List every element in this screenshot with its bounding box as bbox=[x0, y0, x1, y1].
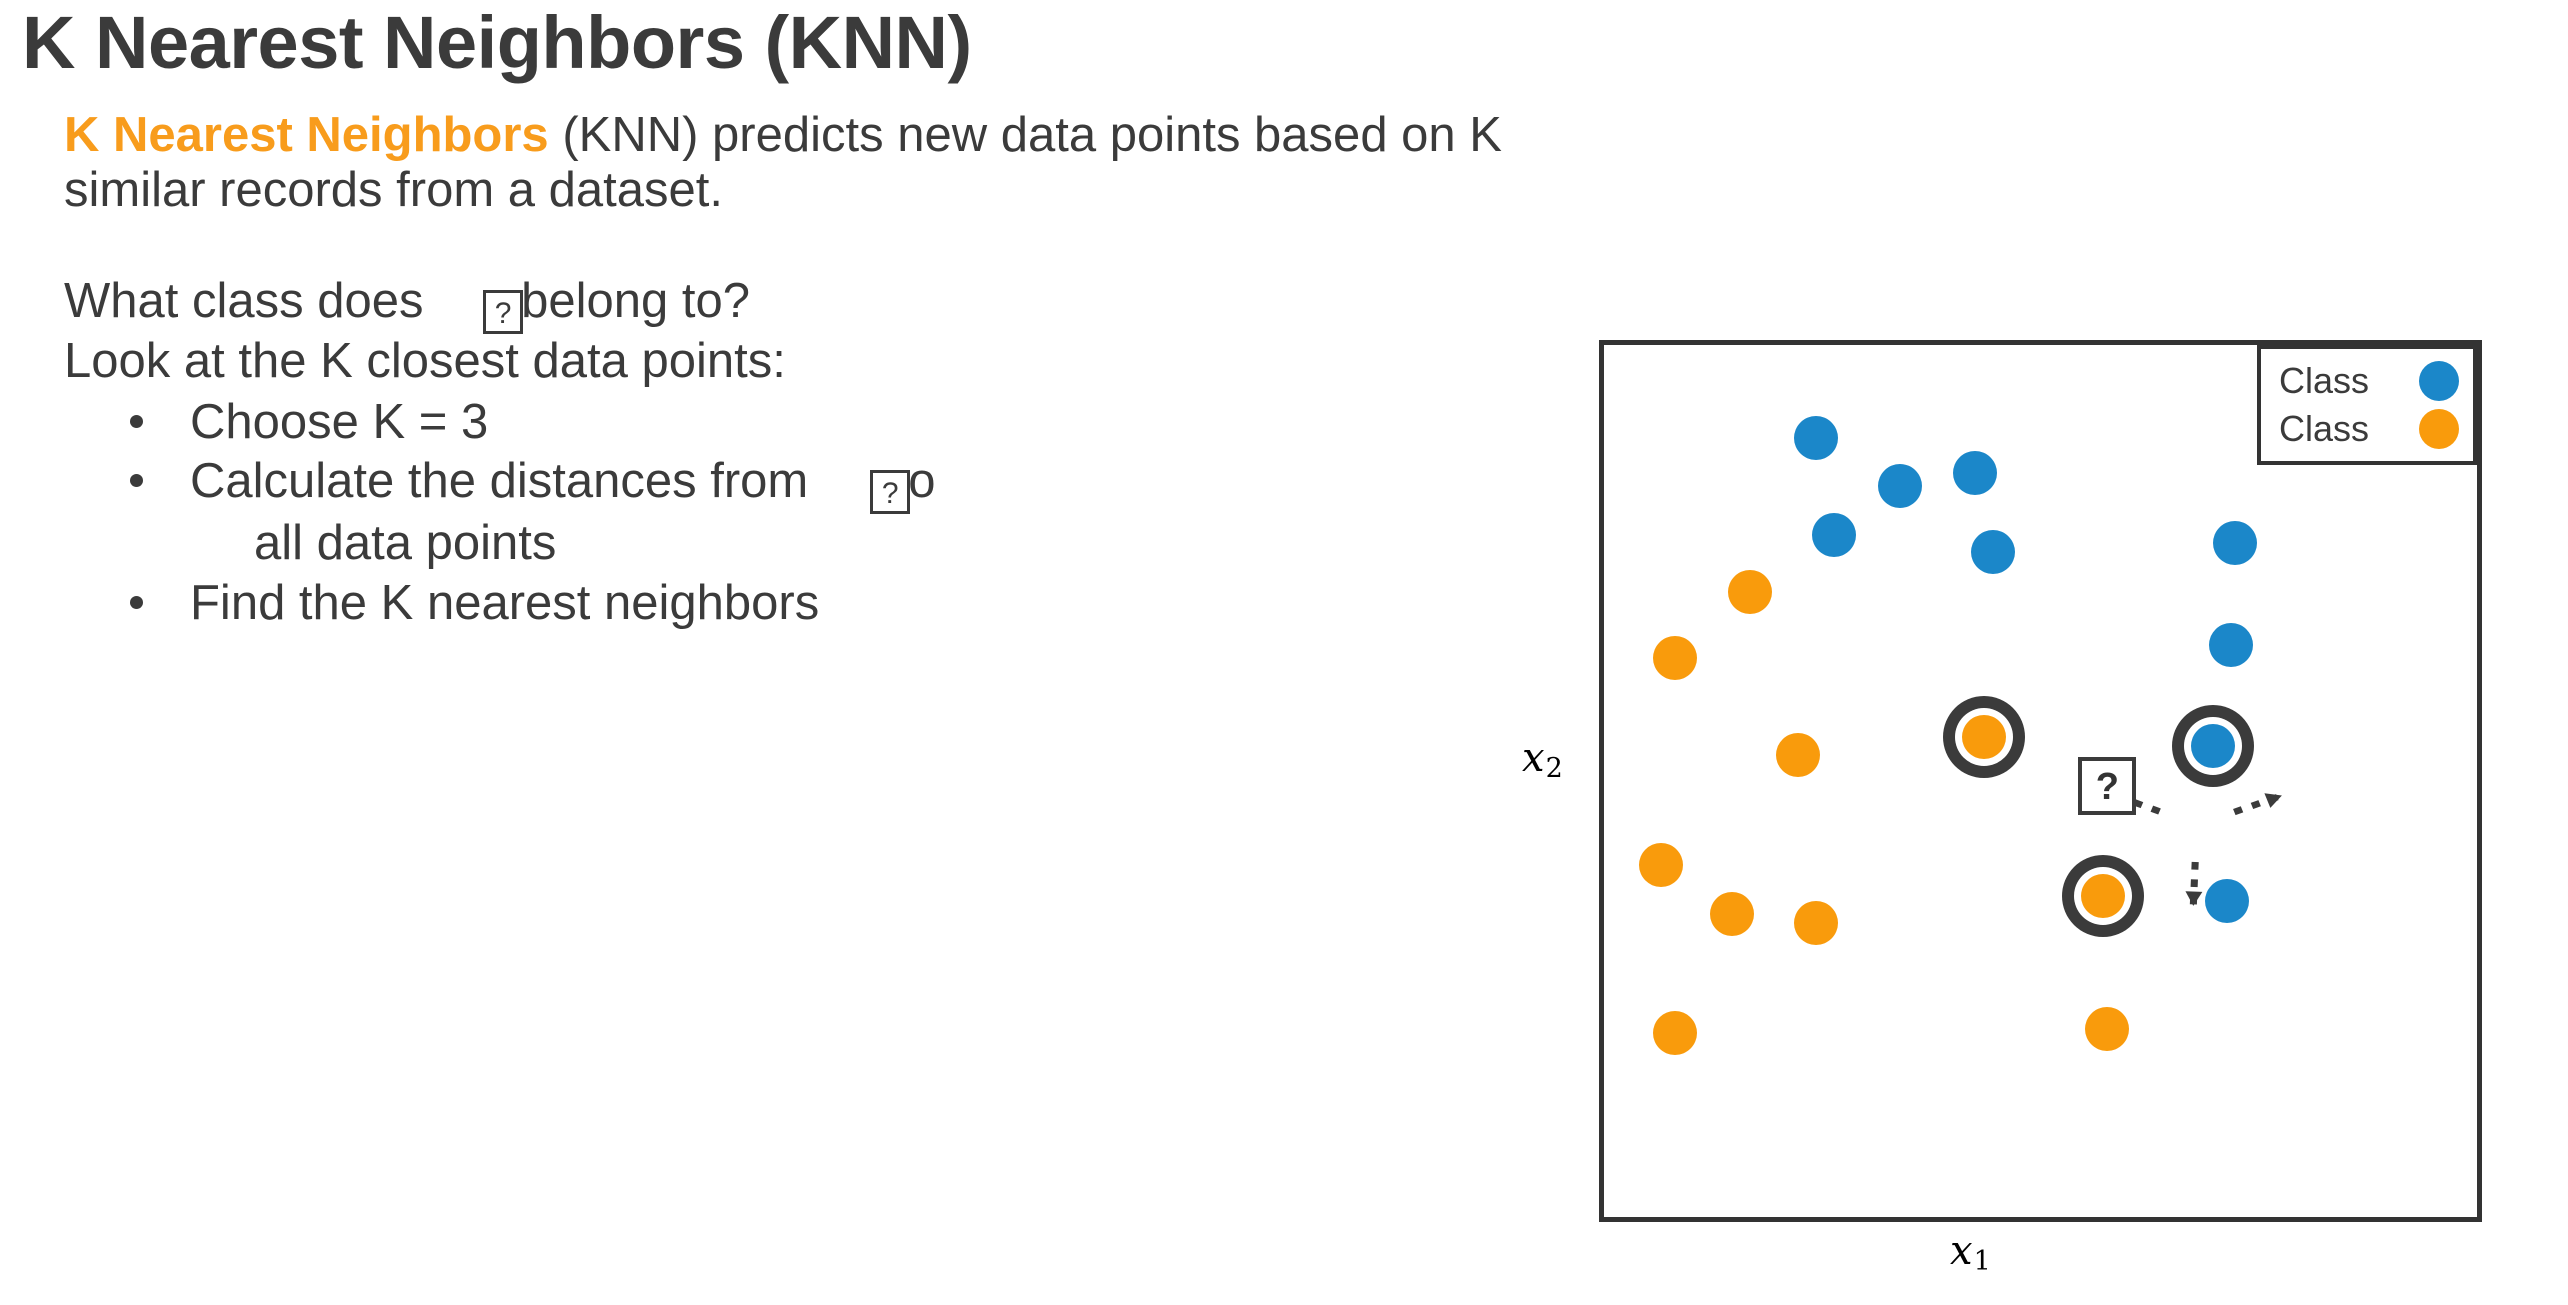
y-axis-label-base: x bbox=[1522, 735, 1545, 781]
distance-connectors bbox=[1604, 345, 2568, 1305]
bullet-dot-icon bbox=[130, 474, 143, 487]
data-point-neighbor bbox=[2081, 874, 2125, 918]
question-prefix-text: What class does bbox=[64, 274, 424, 328]
bullet-dot-icon bbox=[130, 596, 143, 609]
question-mark-box-inline: ? bbox=[870, 470, 910, 514]
y-axis-label-subscript: 2 bbox=[1545, 753, 1563, 784]
bullet-label: Choose K = 3 bbox=[190, 395, 488, 449]
list-item: Calculate the distances from?o bbox=[64, 452, 1544, 514]
list-item: Find the K nearest neighbors bbox=[64, 574, 1544, 634]
plot-frame: ? Class Class bbox=[1599, 340, 2482, 1222]
y-axis-label: x2 bbox=[1522, 735, 1563, 784]
bullet-label: Calculate the distances from bbox=[190, 454, 808, 508]
legend-item: Class bbox=[2279, 405, 2459, 453]
bullet-label: Find the K nearest neighbors bbox=[190, 576, 819, 630]
query-point-marker[interactable]: ? bbox=[2078, 757, 2136, 815]
legend-swatch-orange-icon bbox=[2419, 409, 2459, 449]
question-line: What class does ?belong to? bbox=[64, 274, 1544, 334]
list-item: Choose K = 3 bbox=[64, 393, 1544, 453]
data-point-neighbor bbox=[2191, 724, 2235, 768]
instruction-text: Look at the K closest data points: bbox=[64, 334, 786, 388]
bullet-label-tail: o bbox=[908, 454, 935, 508]
bullet-label: all data points bbox=[254, 516, 556, 570]
paragraph-spacer bbox=[64, 218, 1544, 274]
instruction-line: Look at the K closest data points: bbox=[64, 334, 1544, 389]
intro-paragraph: K Nearest Neighbors (KNN) predicts new d… bbox=[64, 108, 1544, 218]
question-suffix-text: belong to? bbox=[521, 274, 750, 328]
intro-accent-phrase: K Nearest Neighbors bbox=[64, 108, 549, 162]
bullet-dot-icon bbox=[130, 415, 143, 428]
legend-swatch-blue-icon bbox=[2419, 361, 2459, 401]
chart-legend: Class Class bbox=[2257, 345, 2477, 465]
legend-label: Class bbox=[2279, 408, 2397, 450]
list-item: all data points bbox=[64, 514, 1544, 574]
body-text-block: K Nearest Neighbors (KNN) predicts new d… bbox=[64, 108, 1544, 634]
legend-item: Class bbox=[2279, 357, 2459, 405]
distance-arrowhead-icon bbox=[2264, 793, 2281, 808]
data-point-neighbor bbox=[1962, 715, 2006, 759]
legend-label: Class bbox=[2279, 360, 2397, 402]
knn-scatter-plot: x2 x1 ? Class Class bbox=[1520, 320, 2560, 1280]
distance-arrowhead-icon bbox=[2185, 891, 2202, 906]
page-title: K Nearest Neighbors (KNN) bbox=[22, 2, 972, 85]
question-mark-box-inline: ? bbox=[483, 290, 523, 334]
steps-list: Choose K = 3 Calculate the distances fro… bbox=[64, 393, 1544, 634]
